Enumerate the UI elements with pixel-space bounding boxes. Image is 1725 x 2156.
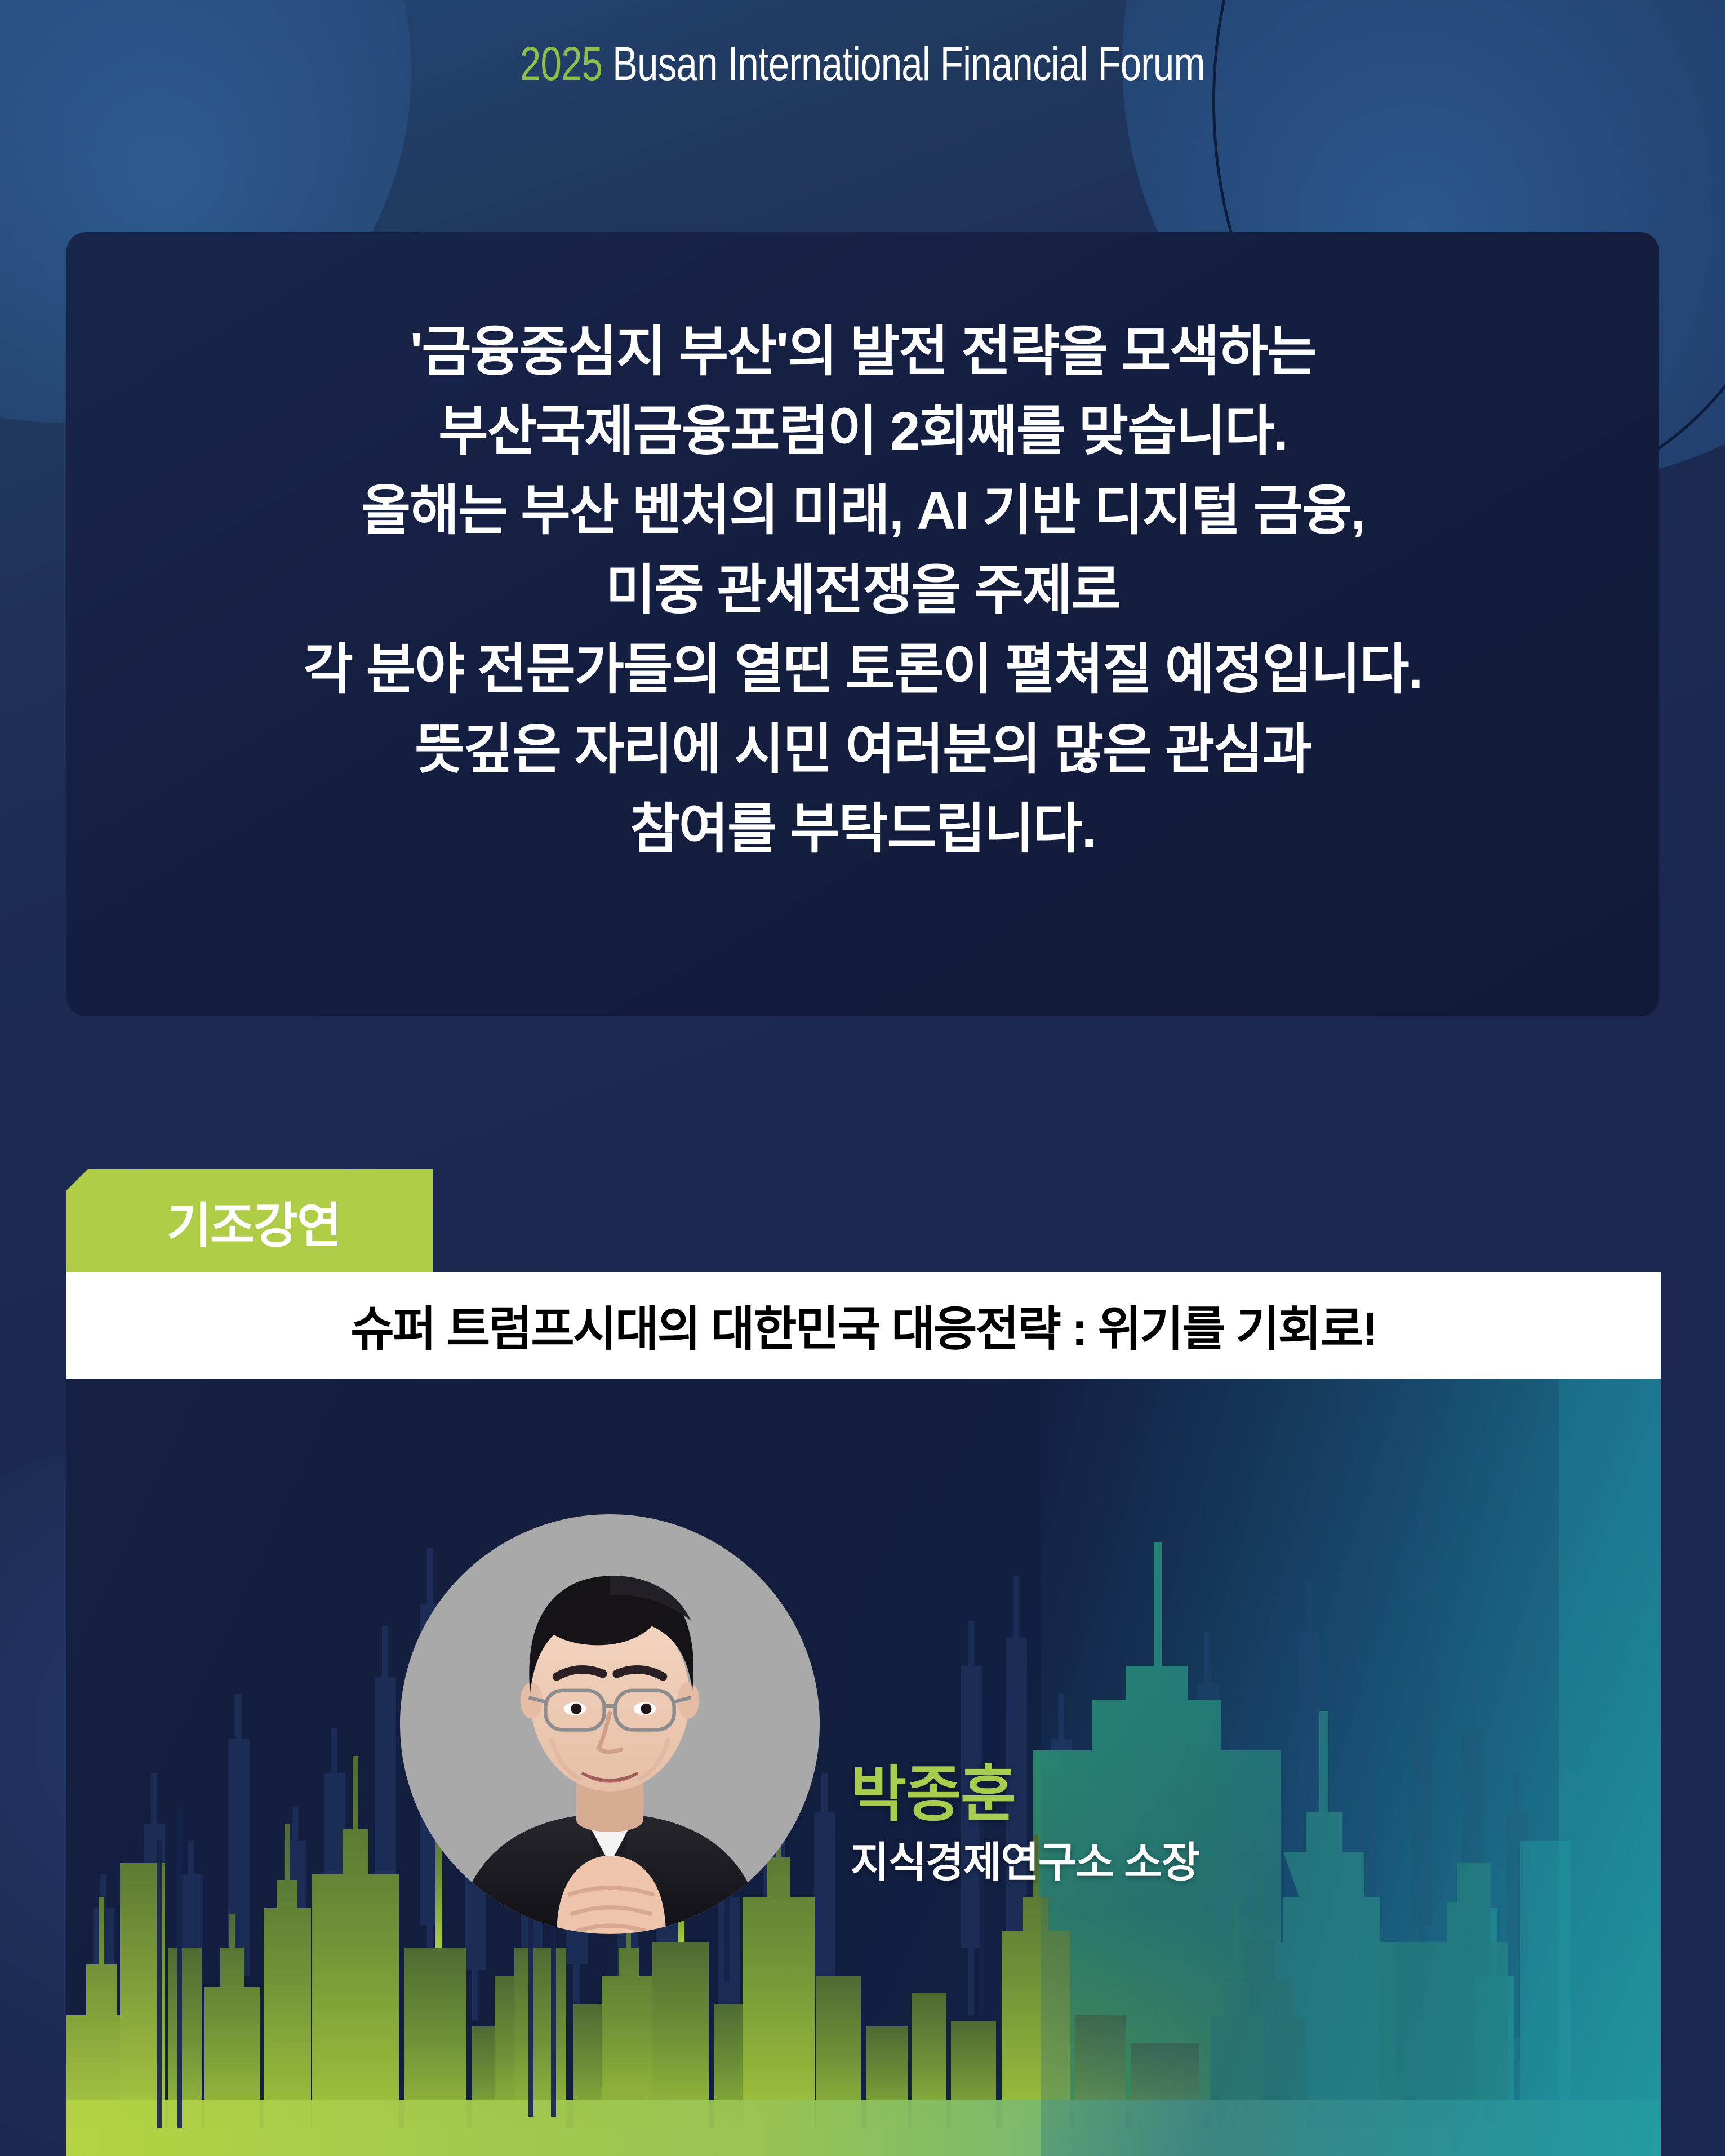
intro-line: 뜻깊은 자리에 시민 여러분의 많은 관심과 — [66, 710, 1659, 789]
poster-root: 2025 Busan International Financial Forum… — [0, 0, 1725, 2156]
header-event-name: Busan International Financial Forum — [612, 37, 1204, 90]
keynote-badge-label: 기조강연 — [159, 1186, 340, 1256]
keynote-title: 슈퍼 트럼프시대의 대한민국 대응전략 : 위기를 기회로! — [350, 1291, 1376, 1359]
intro-line: 미중 관세전쟁을 주제로 — [66, 550, 1659, 630]
intro-paragraph: '금융중심지 부산'의 발전 전략을 모색하는 부산국제금융포럼이 2회째를 맞… — [66, 312, 1659, 869]
keynote-title-bar: 슈퍼 트럼프시대의 대한민국 대응전략 : 위기를 기회로! — [66, 1272, 1661, 1379]
header-year: 2025 — [520, 37, 602, 90]
intro-line: 각 분야 전문가들의 열띤 토론이 펼쳐질 예정입니다. — [66, 630, 1659, 709]
intro-line: 올해는 부산 벤처의 미래, AI 기반 디지털 금융, — [66, 471, 1659, 550]
speaker-role: 지식경제연구소 소장 — [851, 1837, 1527, 1889]
header-title-wrap: 2025 Busan International Financial Forum — [520, 37, 1205, 91]
speaker-name: 박종훈 — [851, 1761, 1527, 1829]
keynote-badge: 기조강연 — [66, 1169, 433, 1273]
speaker-portrait-avatar — [400, 1514, 820, 1934]
speaker-info: 박종훈 지식경제연구소 소장 — [851, 1761, 1527, 1888]
poster-header: 2025 Busan International Financial Forum — [0, 37, 1725, 91]
intro-card: '금융중심지 부산'의 발전 전략을 모색하는 부산국제금융포럼이 2회째를 맞… — [66, 232, 1659, 1016]
intro-line: '금융중심지 부산'의 발전 전략을 모색하는 — [66, 312, 1659, 392]
intro-line: 부산국제금융포럼이 2회째를 맞습니다. — [66, 392, 1659, 471]
portrait-image — [400, 1514, 820, 1934]
intro-line: 참여를 부탁드립니다. — [66, 789, 1659, 869]
